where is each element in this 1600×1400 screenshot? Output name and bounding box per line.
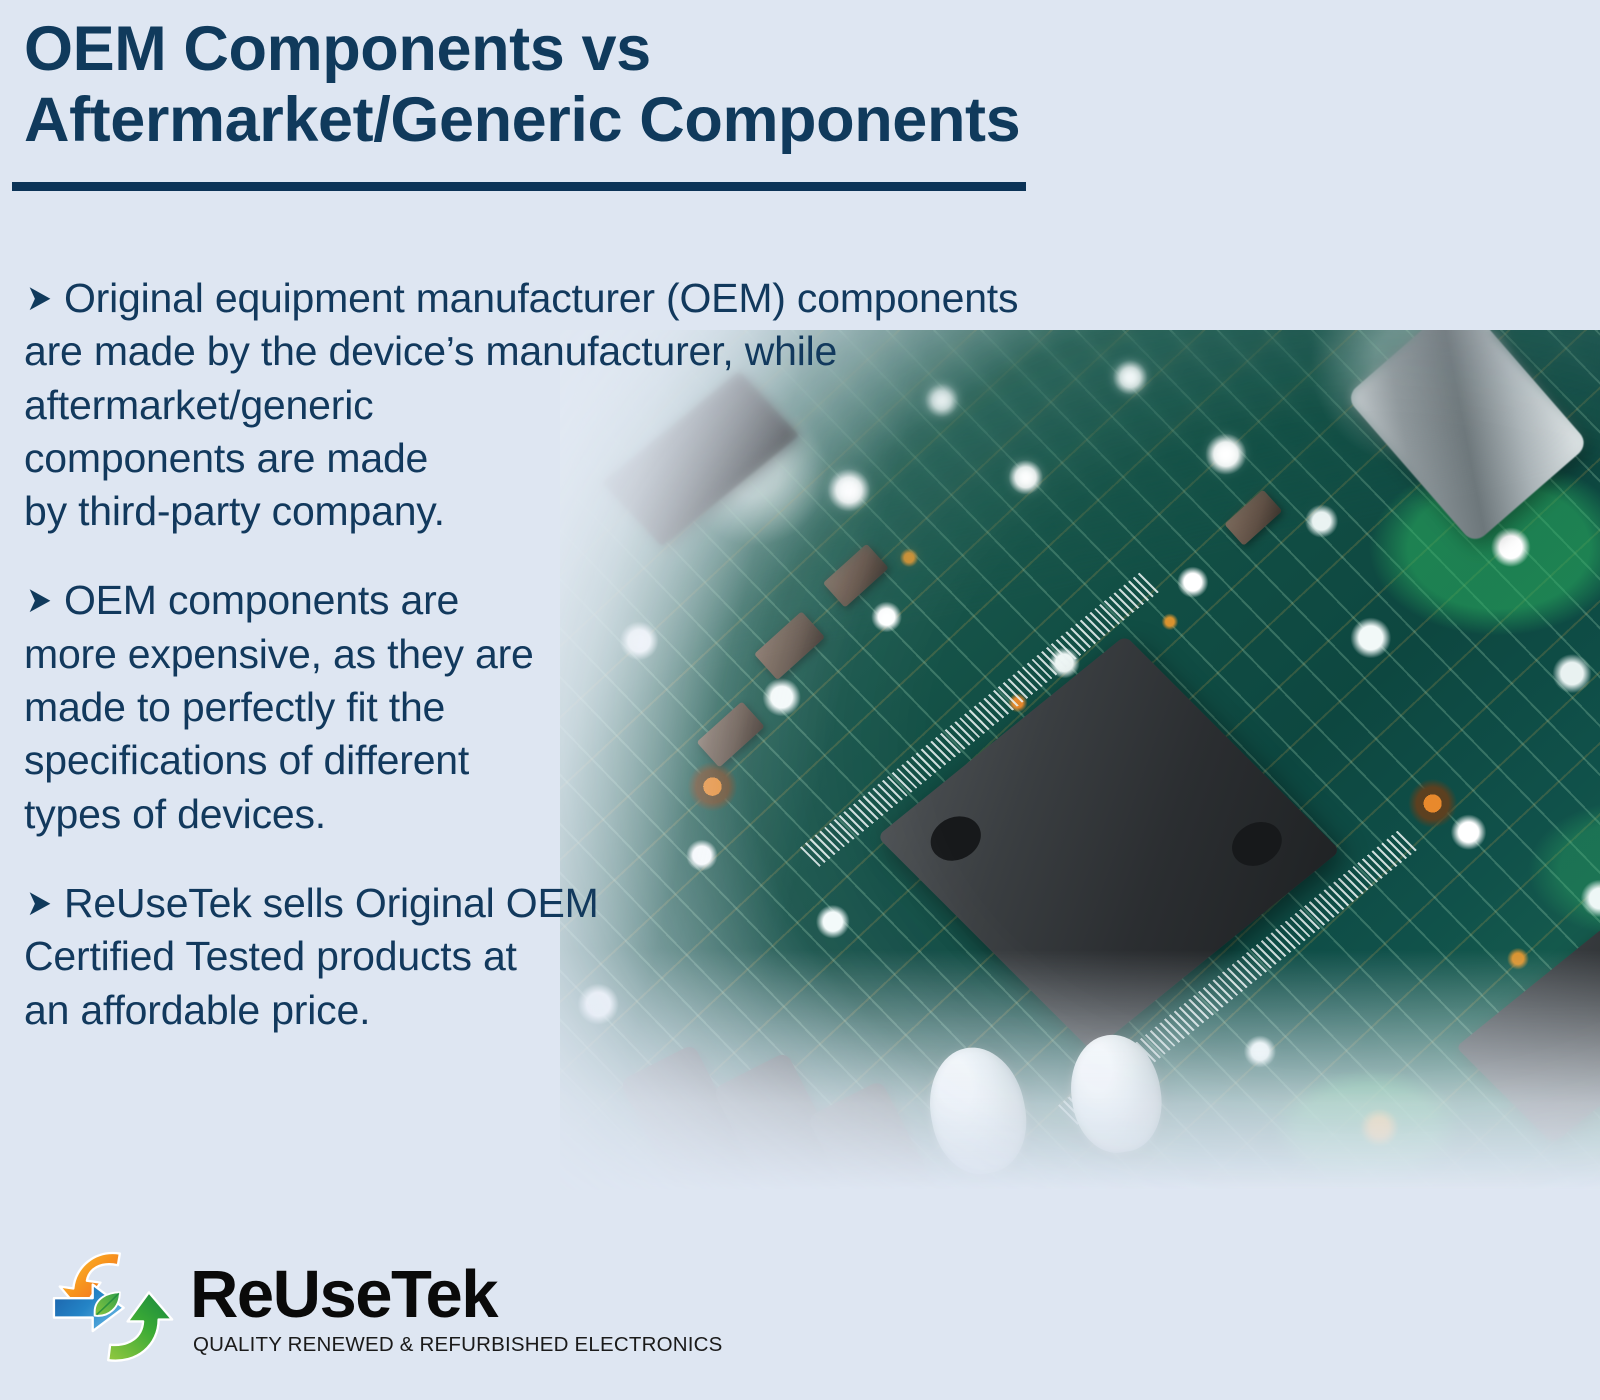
page-title: OEM Components vs Aftermarket/Generic Co…	[24, 14, 1424, 156]
bullet-item-reusetek-offer: ➤ReUseTek sells Original OEM Certified T…	[24, 877, 1444, 1037]
page-title-line-2: Aftermarket/Generic Components	[24, 85, 1424, 156]
title-underline-rule	[12, 182, 1026, 191]
bullet-text: ReUseTek sells Original OEM Certified Te…	[24, 880, 599, 1033]
arrow-bullet-icon: ➤	[26, 885, 51, 921]
infographic-canvas: OEM Components vs Aftermarket/Generic Co…	[0, 0, 1600, 1400]
bullet-list: ➤Original equipment manufacturer (OEM) c…	[24, 272, 1444, 1037]
bullet-text: Original equipment manufacturer (OEM) co…	[24, 275, 1018, 534]
recycling-arrows-logo-icon	[52, 1238, 178, 1368]
bullet-item-oem-definition: ➤Original equipment manufacturer (OEM) c…	[24, 272, 1444, 538]
bullet-item-oem-cost: ➤OEM components are more expensive, as t…	[24, 574, 1444, 840]
bullet-text: OEM components are more expensive, as th…	[24, 577, 534, 836]
arrow-bullet-icon: ➤	[26, 280, 51, 316]
logo-text-block: ReUseTek QUALITY RENEWED & REFURBISHED E…	[190, 1264, 723, 1355]
logo-wordmark: ReUseTek	[190, 1264, 723, 1326]
reusetek-logo: ReUseTek QUALITY RENEWED & REFURBISHED E…	[52, 1238, 723, 1368]
arrow-bullet-icon: ➤	[26, 582, 51, 618]
page-title-line-1: OEM Components vs	[24, 14, 1424, 85]
logo-tagline: QUALITY RENEWED & REFURBISHED ELECTRONIC…	[193, 1335, 723, 1356]
